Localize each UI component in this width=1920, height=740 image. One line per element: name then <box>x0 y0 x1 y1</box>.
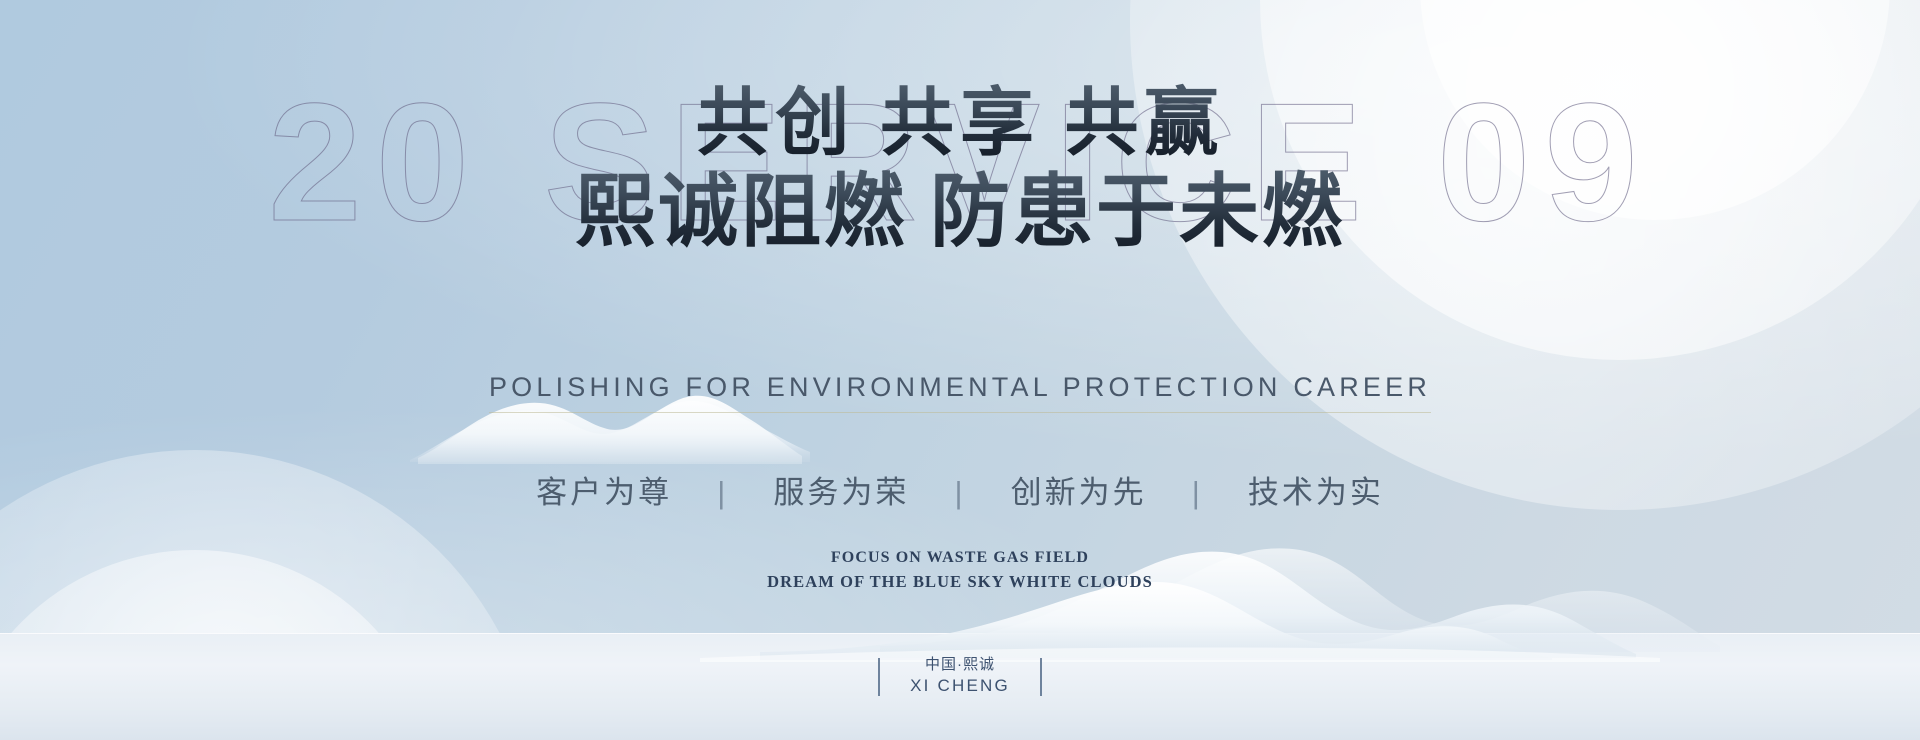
signature-text: 中国·熙诚 XI CHENG <box>910 655 1010 698</box>
brand-signature: 中国·熙诚 XI CHENG <box>0 655 1920 698</box>
value-separator-2: | <box>921 475 999 511</box>
value-item-1: 客户为尊 <box>536 467 672 512</box>
headline: 共创 共享 共赢 熙诚阻燃 防患于未燃 <box>0 82 1920 260</box>
signature-rule-left <box>878 658 880 696</box>
signature-en: XI CHENG <box>910 675 1010 698</box>
subline-line-1: FOCUS ON WASTE GAS FIELD <box>0 546 1920 570</box>
headline-line-2: 熙诚阻燃 防患于未燃 <box>0 168 1920 259</box>
value-item-3: 创新为先 <box>1011 467 1147 512</box>
values-row: 客户为尊 | 服务为荣 | 创新为先 | 技术为实 <box>0 467 1920 512</box>
subline: FOCUS ON WASTE GAS FIELD DREAM OF THE BL… <box>0 546 1920 595</box>
tagline-text: POLISHING FOR ENVIRONMENTAL PROTECTION C… <box>489 372 1431 413</box>
signature-cn: 中国·熙诚 <box>910 655 1010 675</box>
signature-rule-right <box>1040 658 1042 696</box>
tagline: POLISHING FOR ENVIRONMENTAL PROTECTION C… <box>0 372 1920 413</box>
value-separator-1: | <box>684 475 762 511</box>
value-separator-3: | <box>1158 475 1236 511</box>
hero-banner: 20 SERVICE 09 <box>0 0 1920 740</box>
horizon-line <box>0 633 1920 634</box>
subline-line-2: DREAM OF THE BLUE SKY WHITE CLOUDS <box>0 570 1920 595</box>
value-item-2: 服务为荣 <box>773 467 909 512</box>
value-item-4: 技术为实 <box>1248 467 1384 512</box>
headline-line-1: 共创 共享 共赢 <box>0 82 1920 166</box>
